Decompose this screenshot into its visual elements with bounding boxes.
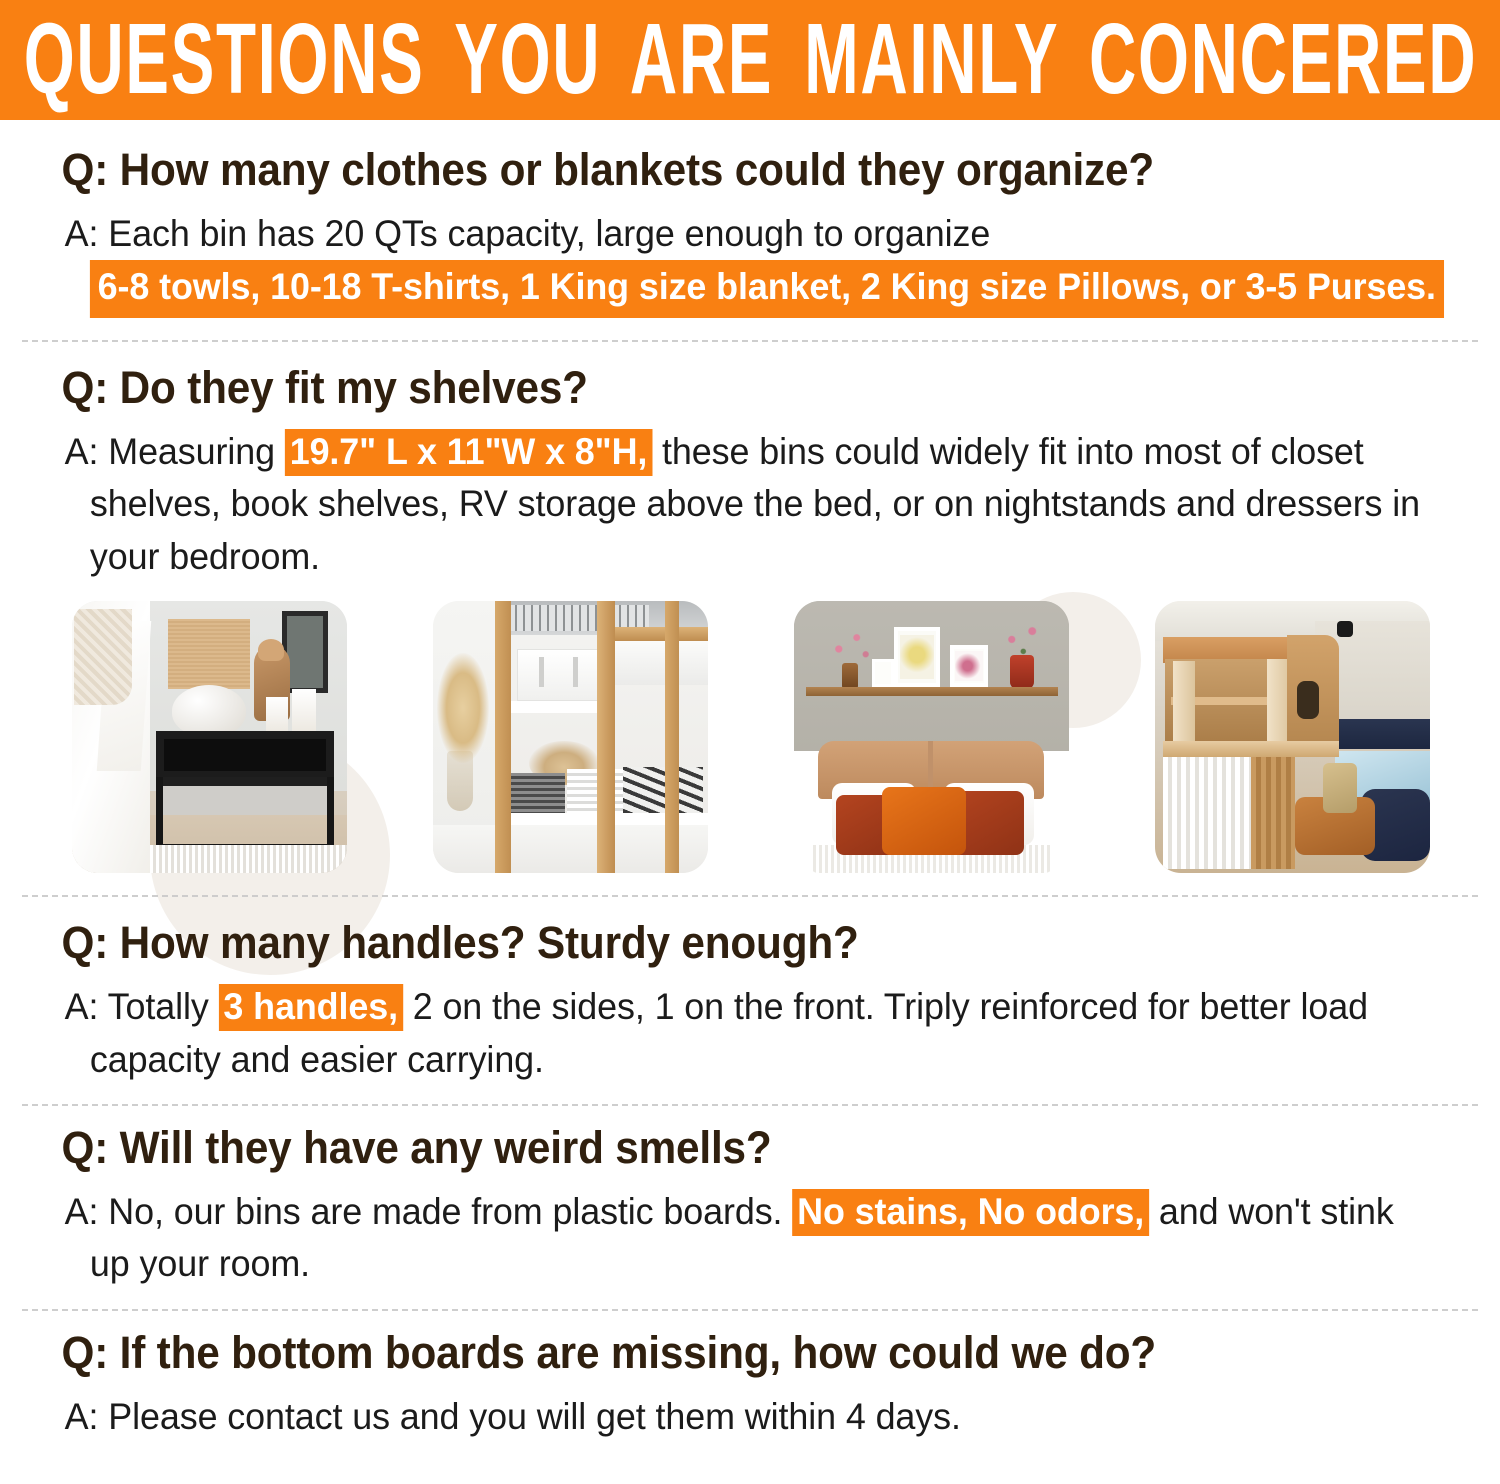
- faq-item-handles: Q: How many handles? Sturdy enough? A: T…: [0, 919, 1500, 1086]
- photo-rv: [1155, 601, 1430, 873]
- faq-item-bottom-boards: Q: If the bottom boards are missing, how…: [0, 1329, 1500, 1443]
- photo-shelving: [433, 601, 708, 873]
- photo-bed: [794, 601, 1069, 873]
- faq-answer-capacity-line1: A: Each bin has 20 QTs capacity, large e…: [65, 213, 991, 254]
- faq-question-dimensions: Q: Do they fit my shelves?: [22, 364, 1391, 412]
- faq-answer-bottom-boards-line1: A: Please contact us and you will get th…: [65, 1396, 961, 1437]
- divider-2: [22, 895, 1478, 897]
- faq-answer-dimensions-pre: A: Measuring: [65, 431, 285, 472]
- faq-question-bottom-boards: Q: If the bottom boards are missing, how…: [22, 1329, 1391, 1377]
- page-title: QUESTIONS YOU ARE MAINLY CONCERED: [23, 10, 1477, 110]
- faq-answer-handles-pre: A: Totally: [65, 986, 219, 1027]
- faq-item-capacity: Q: How many clothes or blankets could th…: [0, 146, 1500, 318]
- faq-answer-smells-highlight: No stains, No odors,: [792, 1189, 1149, 1236]
- faq-question-handles: Q: How many handles? Sturdy enough?: [22, 919, 1391, 967]
- faq-answer-handles: A: Totally 3 handles, 2 on the sides, 1 …: [22, 981, 1434, 1086]
- divider-4: [22, 1309, 1478, 1311]
- faq-question-capacity: Q: How many clothes or blankets could th…: [22, 146, 1391, 194]
- faq-answer-dimensions-highlight: 19.7" L x 11"W x 8"H,: [285, 429, 652, 476]
- faq-answer-handles-highlight: 3 handles,: [219, 984, 403, 1031]
- faq-infographic-page: QUESTIONS YOU ARE MAINLY CONCERED Q: How…: [0, 0, 1500, 1484]
- faq-answer-bottom-boards: A: Please contact us and you will get th…: [22, 1391, 1434, 1444]
- faq-answer-capacity: A: Each bin has 20 QTs capacity, large e…: [22, 208, 1434, 318]
- faq-item-smells: Q: Will they have any weird smells? A: N…: [0, 1124, 1500, 1291]
- divider-1: [22, 340, 1478, 342]
- divider-3: [22, 1104, 1478, 1106]
- header-banner: QUESTIONS YOU ARE MAINLY CONCERED: [0, 0, 1500, 120]
- photo-nightstand: [72, 601, 347, 873]
- faq-question-smells: Q: Will they have any weird smells?: [22, 1124, 1391, 1172]
- faq-answer-capacity-highlight: 6-8 towls, 10-18 T-shirts, 1 King size b…: [90, 260, 1444, 318]
- faq-answer-smells: A: No, our bins are made from plastic bo…: [22, 1186, 1434, 1291]
- faq-item-dimensions: Q: Do they fit my shelves? A: Measuring …: [0, 364, 1500, 583]
- photo-strip: [0, 601, 1500, 873]
- faq-answer-dimensions: A: Measuring 19.7" L x 11"W x 8"H, these…: [22, 426, 1434, 584]
- faq-content: Q: How many clothes or blankets could th…: [0, 120, 1500, 1443]
- faq-answer-smells-pre: A: No, our bins are made from plastic bo…: [65, 1191, 793, 1232]
